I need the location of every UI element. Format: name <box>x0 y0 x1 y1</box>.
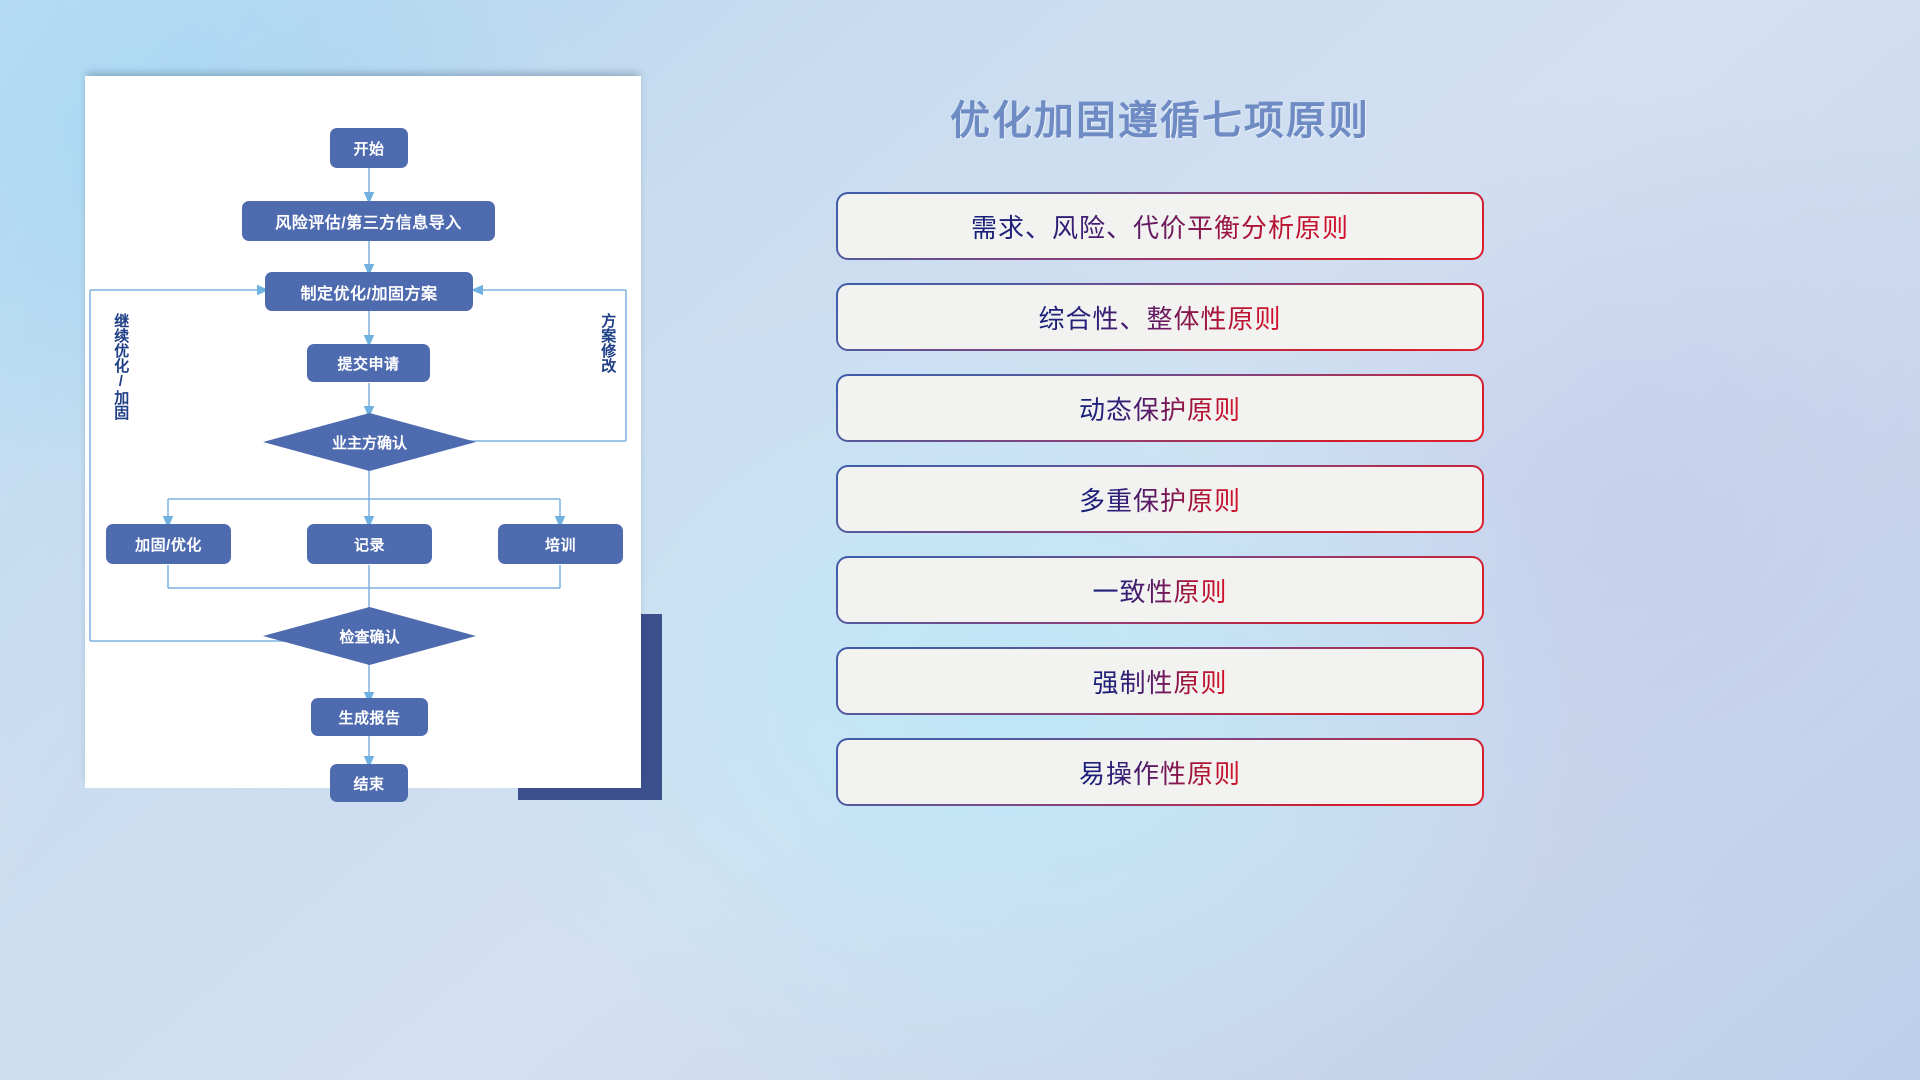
flow-node-start[interactable]: 开始 <box>330 128 408 168</box>
principle-label: 动态保护原则 <box>1079 390 1241 427</box>
principle-label: 需求、风险、代价平衡分析原则 <box>971 208 1349 245</box>
flow-node-generate-report[interactable]: 生成报告 <box>311 698 428 736</box>
principle-label: 多重保护原则 <box>1079 481 1241 518</box>
flow-node-reinforce[interactable]: 加固/优化 <box>106 524 231 564</box>
principle-item[interactable]: 动态保护原则 <box>836 374 1484 442</box>
flow-node-record[interactable]: 记录 <box>307 524 432 564</box>
principle-item[interactable]: 多重保护原则 <box>836 465 1484 533</box>
principle-item[interactable]: 一致性原则 <box>836 556 1484 624</box>
edge-label-continue-optimize: 继续优化/加固 <box>113 313 128 463</box>
flow-node-check-confirm-label: 检查确认 <box>339 626 399 647</box>
principle-item[interactable]: 需求、风险、代价平衡分析原则 <box>836 192 1484 260</box>
principle-item[interactable]: 易操作性原则 <box>836 738 1484 806</box>
principle-list: 需求、风险、代价平衡分析原则 综合性、整体性原则 动态保护原则 多重保护原则 一… <box>836 192 1484 806</box>
flow-node-owner-confirm[interactable]: 业主方确认 <box>263 413 476 471</box>
principle-label: 易操作性原则 <box>1079 754 1241 791</box>
slide-canvas: 开始 风险评估/第三方信息导入 制定优化/加固方案 提交申请 业主方确认 加固/… <box>0 0 1920 1080</box>
panel-title: 优化加固遵循七项原则 <box>836 82 1484 150</box>
flow-node-submit-application[interactable]: 提交申请 <box>307 344 430 382</box>
flow-node-risk-assessment[interactable]: 风险评估/第三方信息导入 <box>242 201 495 241</box>
principles-panel: 优化加固遵循七项原则 需求、风险、代价平衡分析原则 综合性、整体性原则 动态保护… <box>836 82 1484 806</box>
edge-label-plan-revision: 方案修改 <box>600 313 615 413</box>
principle-item[interactable]: 综合性、整体性原则 <box>836 283 1484 351</box>
principle-item[interactable]: 强制性原则 <box>836 647 1484 715</box>
flow-node-plan[interactable]: 制定优化/加固方案 <box>265 272 473 311</box>
flow-node-owner-confirm-label: 业主方确认 <box>332 432 407 453</box>
principle-label: 综合性、整体性原则 <box>1038 299 1281 336</box>
flowchart-card: 开始 风险评估/第三方信息导入 制定优化/加固方案 提交申请 业主方确认 加固/… <box>85 76 641 788</box>
flow-node-training[interactable]: 培训 <box>498 524 623 564</box>
flow-node-check-confirm[interactable]: 检查确认 <box>263 607 476 665</box>
flow-node-end[interactable]: 结束 <box>330 764 408 802</box>
principle-label: 一致性原则 <box>1092 572 1227 609</box>
principle-label: 强制性原则 <box>1092 663 1227 700</box>
